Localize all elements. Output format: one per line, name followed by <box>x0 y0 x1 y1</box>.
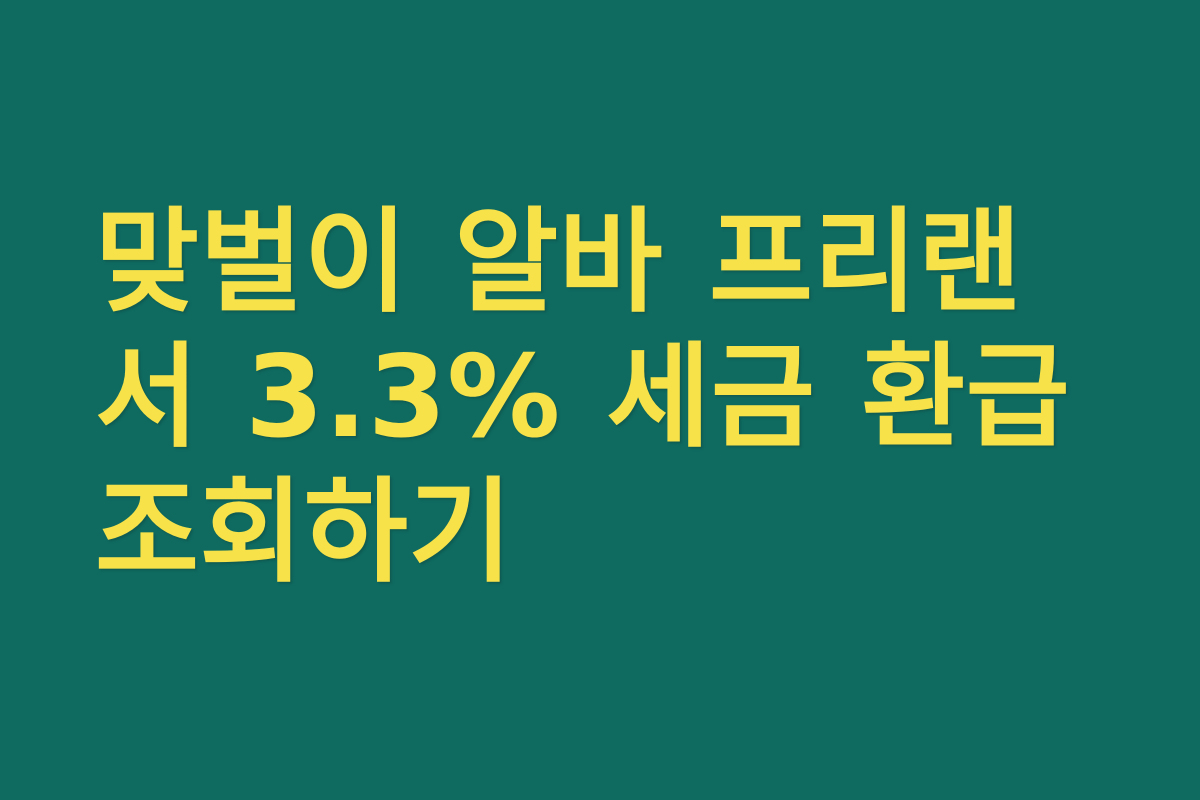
page-title: 맞벌이 알바 프리랜서 3.3% 세금 환급 조회하기 <box>95 195 1105 600</box>
headline-block: 맞벌이 알바 프리랜서 3.3% 세금 환급 조회하기 <box>95 195 1105 600</box>
banner-canvas: 맞벌이 알바 프리랜서 3.3% 세금 환급 조회하기 <box>0 0 1200 800</box>
